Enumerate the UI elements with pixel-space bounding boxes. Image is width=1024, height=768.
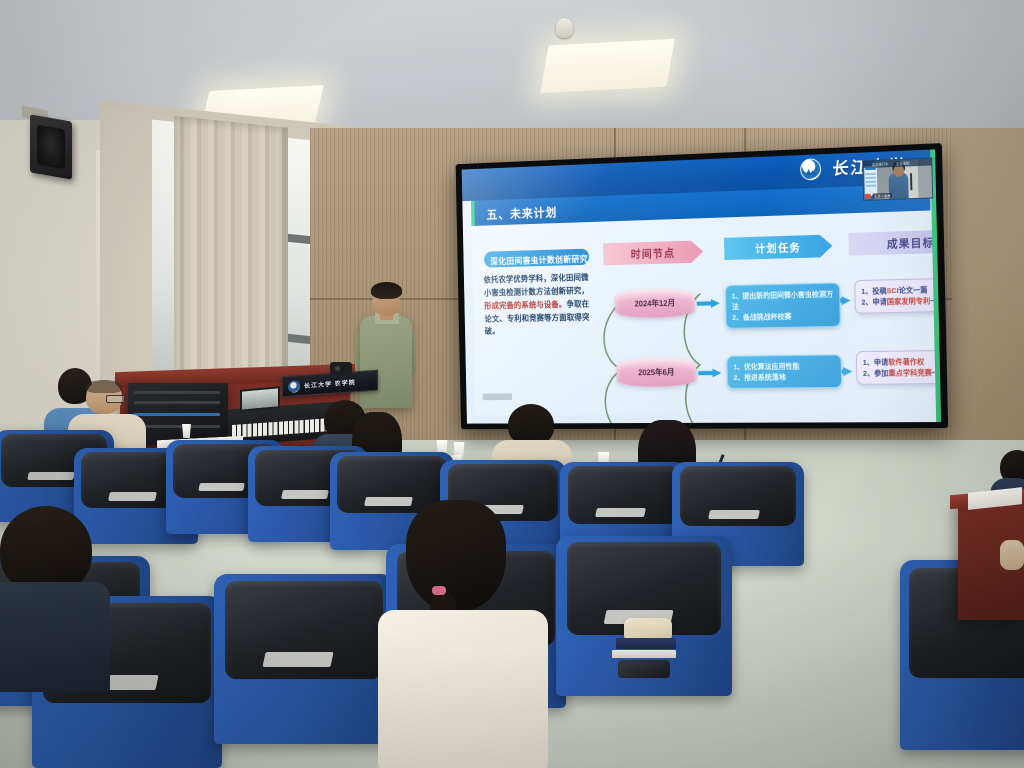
column-header-task: 计划任务 [724, 234, 833, 260]
milestone-node: 2024年12月 [615, 288, 695, 318]
presenter-body [360, 316, 412, 408]
lead-paragraph: 依托农学优势学科，深化田间微小害虫检测计数方法创新研究，形成完备的系统与设备。争… [484, 271, 596, 339]
result-highlight: 重点学科竞赛 [888, 368, 932, 377]
slide-body: 深化田间害虫计数创新研究 依托农学优势学科，深化田间微小害虫检测计数方法创新研究… [471, 211, 931, 416]
video-conference-inset[interactable]: 会议进行中 正在录制 主讲人画面 [862, 157, 933, 200]
person-hair [406, 500, 506, 612]
pip-record-dot-icon [865, 193, 871, 198]
result-box: 1、做会议口头报告一次2、投稿SCI论文一篇 [857, 422, 941, 424]
person-hand [1000, 540, 1024, 570]
flow-arrow-icon [697, 299, 720, 308]
pip-status-text: 会议进行中 [872, 161, 889, 167]
control-touchscreen[interactable] [240, 386, 280, 411]
task-line: 2、备战挑战杯校赛 [732, 310, 834, 323]
lead-text-segment: 依托农学优势学科，深化田间微小害虫检测计数方法创新研究， [484, 272, 589, 297]
pip-badge-text: 主讲人画面 [872, 192, 892, 198]
pip-record-text: 正在录制 [896, 160, 909, 166]
result-box: 1、申请软件著作权2、参加重点学科竞赛一项并获奖 [856, 349, 941, 385]
slide-title: 五、未来计划 [486, 202, 557, 222]
printed-handout [612, 650, 676, 658]
result-highlight: 软件著作权 [888, 357, 924, 366]
lead-heading-pill: 深化田间害虫计数创新研究 [484, 249, 589, 268]
result-line: 2、申请国家发明专利一项 [861, 294, 941, 308]
lead-text-emphasis: 形成完备的系统与设备。 [484, 299, 566, 310]
smoke-detector-icon [556, 18, 573, 38]
pip-background-slide [864, 166, 877, 196]
notebook [616, 638, 676, 649]
document-camera [330, 362, 352, 375]
task-line: 2、推进系统落地 [733, 371, 835, 383]
glasses-icon [106, 395, 125, 403]
task-box: 1、优化算法应用性能2、推进系统落地 [727, 354, 843, 389]
result-highlight: 国家发明专利 [887, 296, 931, 306]
ceiling-light-panel [540, 39, 675, 93]
column-header-time: 时间节点 [603, 240, 703, 265]
pip-microphone-icon [910, 173, 912, 190]
hair-tie-icon [432, 586, 446, 595]
person-hair [0, 506, 92, 594]
person-hair [86, 380, 122, 393]
smartphone[interactable] [618, 660, 670, 678]
presentation-screen[interactable]: 会议进行中 正在录制 长江大学 五、未来计划 深化田间害虫计数创新研究 依托农学… [456, 143, 949, 429]
screen-surface: 会议进行中 正在录制 长江大学 五、未来计划 深化田间害虫计数创新研究 依托农学… [462, 149, 941, 423]
slide-watermark [483, 393, 513, 400]
pip-badge: 主讲人画面 [865, 192, 893, 199]
milestone-node: 2025年6月 [616, 357, 696, 387]
podium-plaque-text: 长江大学 农学院 [304, 377, 356, 390]
task-line: 1、提出新的田间微小害虫检测方法 [732, 289, 834, 313]
task-box: 1、提出新的田间微小害虫检测方法2、备战挑战杯校赛 [725, 282, 841, 329]
flow-arrow-icon [698, 369, 721, 378]
lead-heading-text: 深化田间害虫计数创新研究 [490, 252, 588, 267]
person-torso [378, 610, 548, 768]
wall-speaker [30, 114, 72, 179]
university-seal-icon [288, 380, 300, 393]
result-line: 2、参加重点学科竞赛一项并获奖 [863, 367, 941, 379]
presenter-hair [371, 282, 402, 299]
lecture-hall-photo: 会议进行中 正在录制 长江大学 五、未来计划 深化田间害虫计数创新研究 依托农学… [0, 0, 1024, 768]
result-box: 1、投稿SCI论文一篇2、申请国家发明专利一项 [854, 277, 941, 314]
right-wall-section [952, 128, 1024, 468]
result-line: 1、申请软件著作权 [863, 355, 942, 368]
column-header-result: 成果目标 [848, 229, 941, 256]
person-torso [0, 582, 110, 692]
auditorium-seat [214, 574, 394, 744]
result-highlight: SCI [887, 286, 899, 295]
